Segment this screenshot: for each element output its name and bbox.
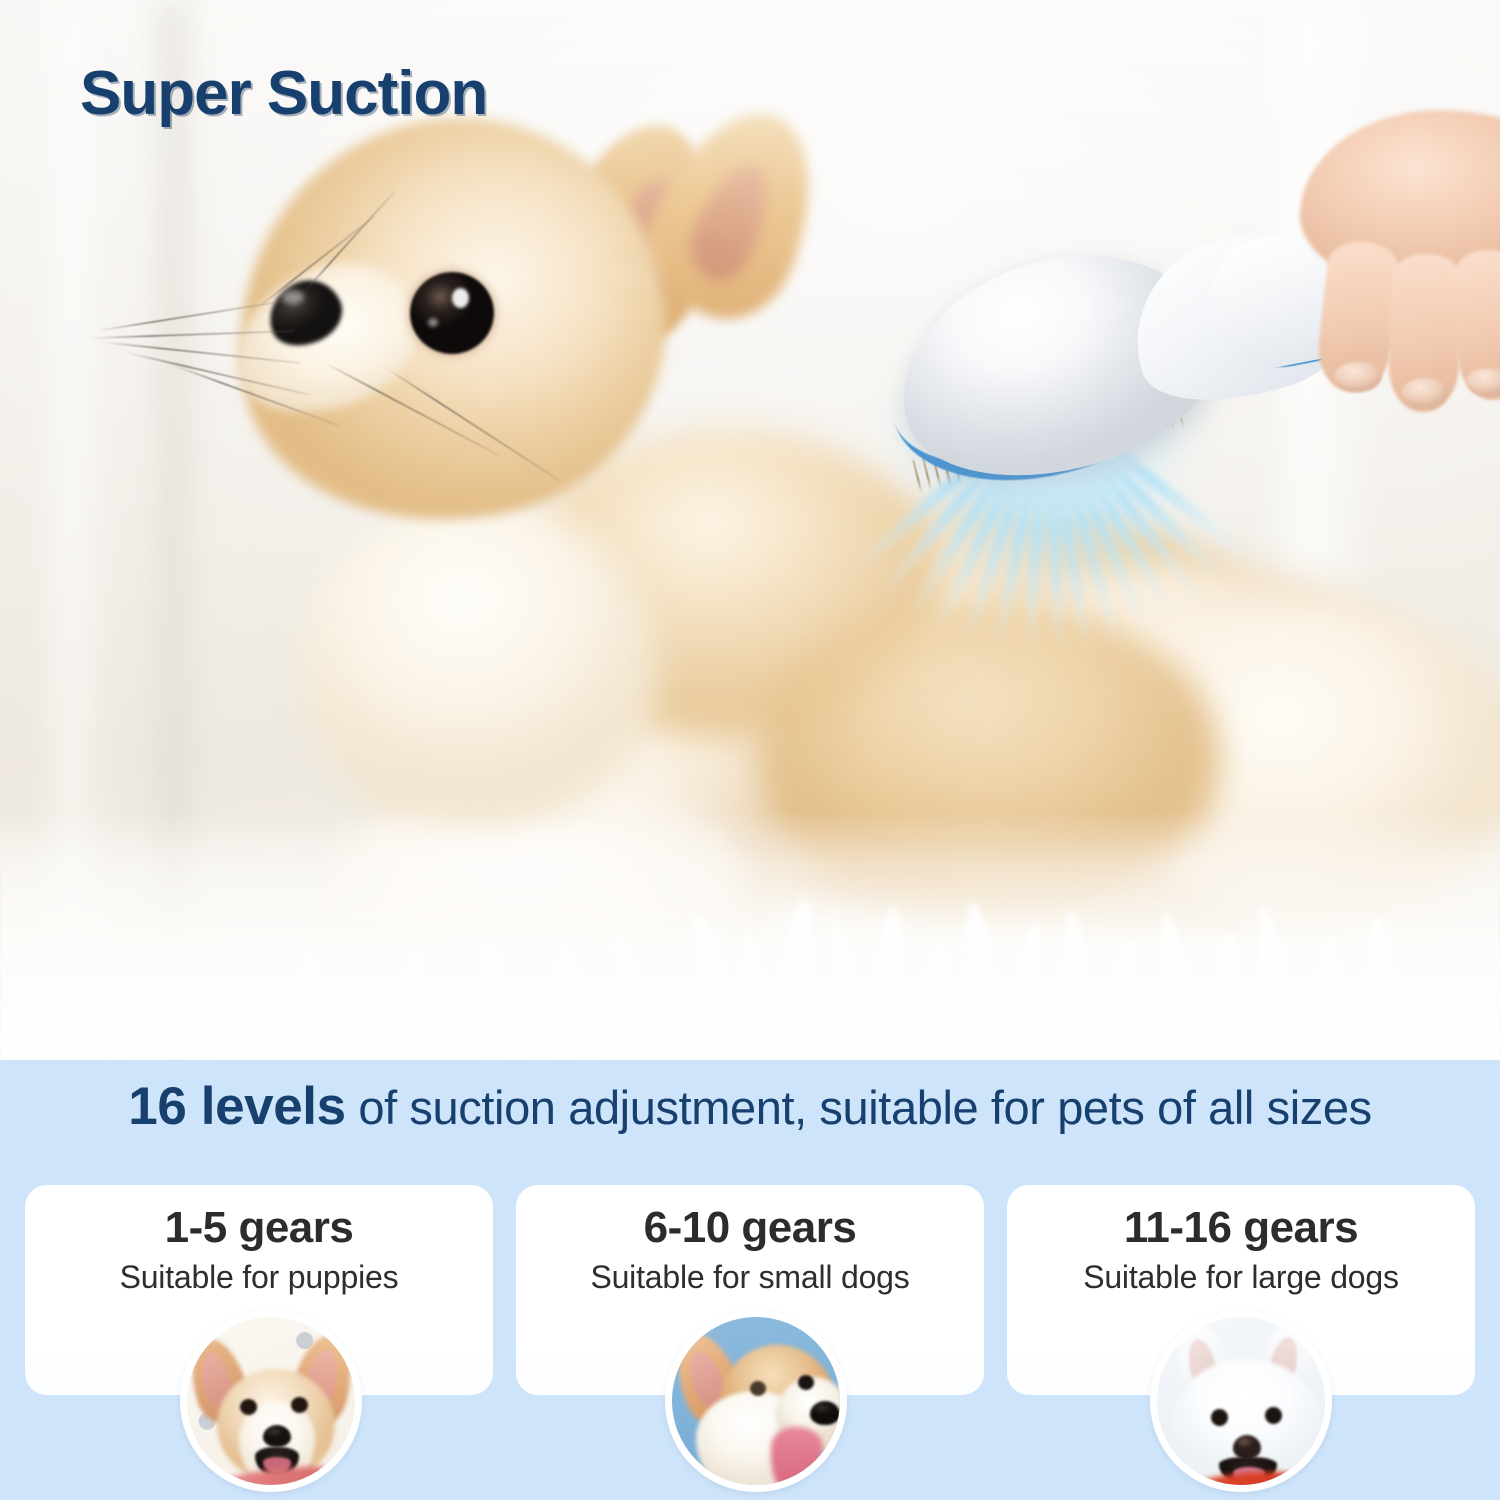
hero-photo: Super Suction: [0, 0, 1500, 1060]
gear-card-title: 1-5 gears: [25, 1205, 493, 1251]
panel-title-strong: 16 levels: [128, 1077, 345, 1136]
panel-title-rest: of suction adjustment, suitable for pets…: [346, 1081, 1372, 1134]
gear-card-subtitle: Suitable for small dogs: [516, 1259, 984, 1296]
corgi-avatar: [665, 1310, 847, 1492]
page-title: Super Suction: [80, 58, 487, 129]
gear-card-subtitle: Suitable for puppies: [25, 1259, 493, 1296]
suction-levels-panel: 16 levels of suction adjustment, suitabl…: [0, 1060, 1500, 1500]
panel-title: 16 levels of suction adjustment, suitabl…: [0, 1076, 1500, 1137]
product-feature-image: Super Suction 16 levels of suction adjus…: [0, 0, 1500, 1500]
gear-card-subtitle: Suitable for large dogs: [1007, 1259, 1475, 1296]
rug-tufts: [0, 0, 1500, 1060]
corgi-puppy-avatar: [180, 1310, 362, 1492]
gear-card-title: 6-10 gears: [516, 1205, 984, 1251]
samoyed-avatar: [1150, 1310, 1332, 1492]
gear-card-title: 11-16 gears: [1007, 1205, 1475, 1251]
